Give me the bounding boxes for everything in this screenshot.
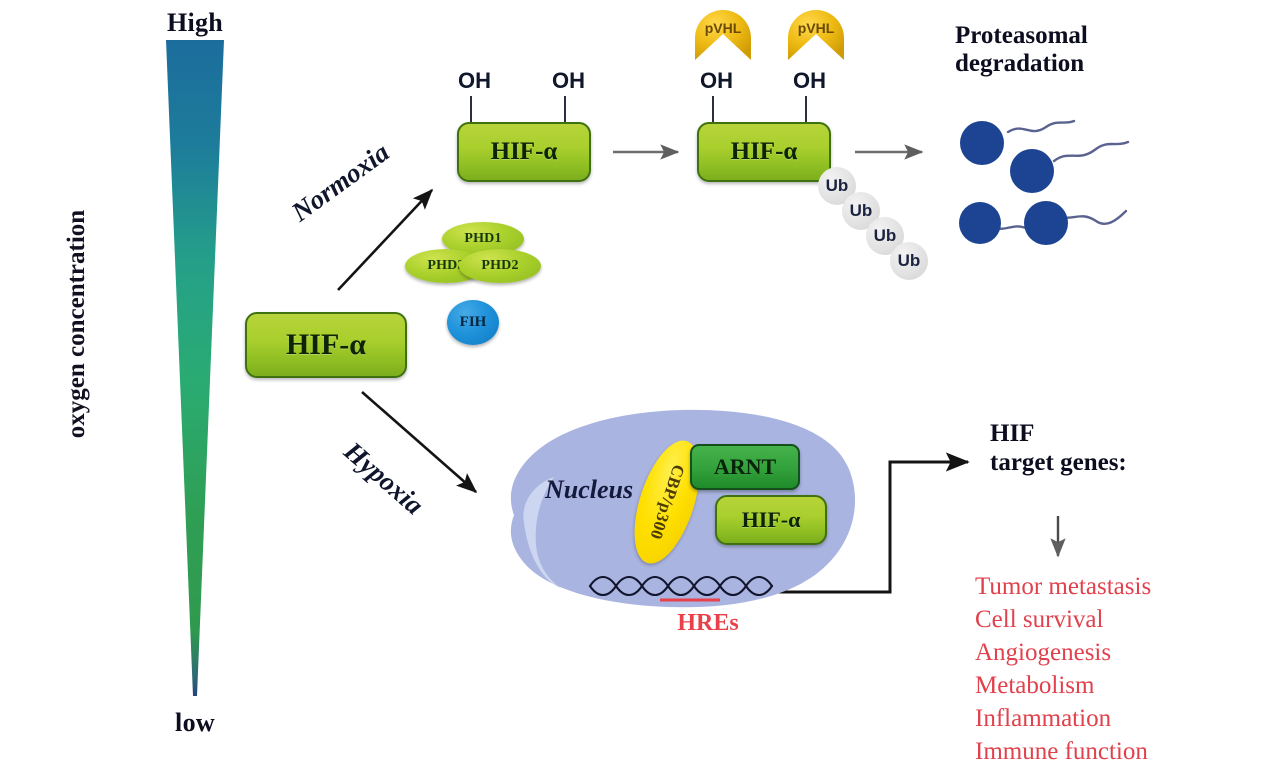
gene-item: Cell survival (975, 603, 1151, 636)
oh-stem-4 (805, 96, 807, 122)
hif-target-genes-title: HIF target genes: (990, 420, 1127, 477)
gene-item: Immune function (975, 735, 1151, 768)
oh-stem-2 (564, 96, 566, 122)
oh-stem-1 (470, 96, 472, 122)
oh-label-1: OH (458, 68, 491, 94)
arnt-box: ARNT (690, 444, 800, 490)
pvhl-text-2: pVHL (783, 20, 849, 36)
hif-alpha-box-ubiquitinated: HIF-α (697, 122, 831, 182)
gene-item: Angiogenesis (975, 636, 1151, 669)
fih-enzyme: FIH (447, 300, 499, 345)
oh-label-3: OH (700, 68, 733, 94)
pvhl-shapes-layer (690, 8, 850, 70)
target-genes-line2: target genes: (990, 449, 1127, 478)
hres-label: HREs (648, 610, 768, 637)
hif-pathway-diagram: High low oxygen concentration HIF-α (0, 0, 1280, 775)
oh-label-4: OH (793, 68, 826, 94)
gene-item: Inflammation (975, 702, 1151, 735)
gene-item: Tumor metastasis (975, 570, 1151, 603)
proteasomal-title-line1: Proteasomal (955, 22, 1088, 50)
degraded-fragments (950, 105, 1180, 245)
hif-alpha-box-hydroxylated: HIF-α (457, 122, 591, 182)
ub-circle-4: Ub (890, 242, 928, 280)
nucleus-label: Nucleus (545, 475, 633, 505)
phd2-enzyme: PHD2 (459, 249, 541, 283)
gene-item: Metabolism (975, 669, 1151, 702)
pvhl-text-1: pVHL (690, 20, 756, 36)
target-genes-list: Tumor metastasis Cell survival Angiogene… (975, 570, 1151, 768)
target-genes-line1: HIF (990, 420, 1127, 449)
cbp-p300-label: CBP/p300 (645, 462, 688, 542)
dna-strand-hre (588, 566, 788, 606)
oh-label-2: OH (552, 68, 585, 94)
proteasomal-title-line2: degradation (955, 50, 1088, 78)
proteasomal-degradation-title: Proteasomal degradation (955, 22, 1088, 78)
hif-alpha-box-nuclear: HIF-α (715, 495, 827, 545)
oh-stem-3 (712, 96, 714, 122)
